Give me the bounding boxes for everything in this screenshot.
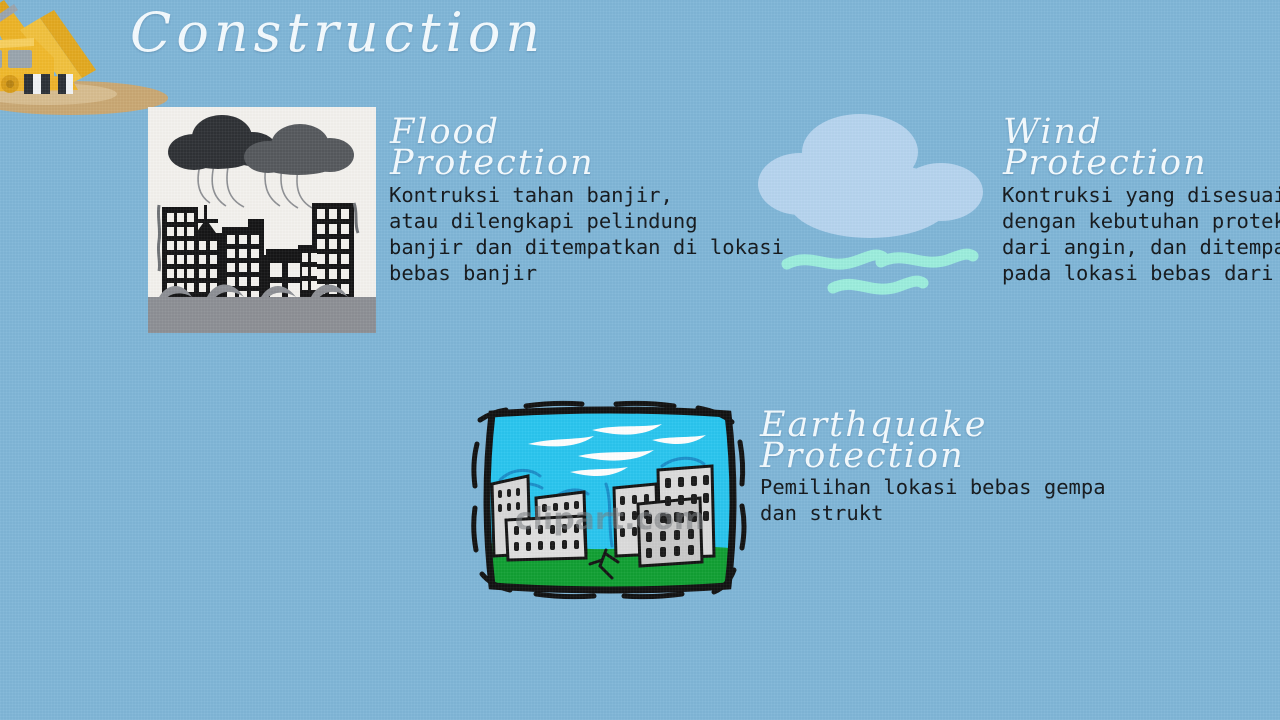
eq-scene-icon: [466, 398, 754, 602]
wind-body-line-4: pada lokasi bebas dari angin: [1002, 260, 1280, 286]
earthquake-body-line-2: dan strukt: [760, 500, 1106, 526]
cloud-icon: [758, 114, 983, 238]
section-body-wind: Kontruksi yang disesuaikan dengan kebutu…: [1002, 182, 1280, 286]
flood-body-line-2: atau dilengkapi pelindung: [389, 208, 784, 234]
flood-body-line-3: banjir dan ditempatkan di lokasi: [389, 234, 784, 260]
flood-title-line2: Protection: [390, 146, 595, 181]
wind-svg: [745, 112, 1010, 297]
earthquake-body-line-1: Pemilihan lokasi bebas gempa: [760, 474, 1106, 500]
slide-canvas: Construction: [0, 0, 1280, 720]
section-title-flood: Flood Protection: [390, 115, 595, 181]
section-title-wind: Wind Protection: [1003, 115, 1208, 181]
crane-track-icon: [0, 74, 78, 94]
wind-body-line-1: Kontruksi yang disesuaikan: [1002, 182, 1280, 208]
section-body-flood: Kontruksi tahan banjir, atau dilengkapi …: [389, 182, 784, 286]
flood-body-line-1: Kontruksi tahan banjir,: [389, 182, 784, 208]
flood-city-illustration: [148, 107, 376, 333]
earthquake-title-line2: Protection: [760, 439, 988, 474]
wind-body-line-2: dengan kebutuhan proteksi: [1002, 208, 1280, 234]
flood-svg: [148, 107, 376, 333]
section-title-earthquake: Earthquake Protection: [760, 408, 988, 474]
earthquake-svg: [466, 398, 754, 602]
earthquake-city-illustration: clipart.com: [466, 398, 754, 602]
wind-body-line-3: dari angin, dan ditempatkan: [1002, 234, 1280, 260]
cloud-wind-illustration: [745, 112, 1010, 297]
wind-title-line2: Protection: [1003, 146, 1208, 181]
section-body-earthquake: Pemilihan lokasi bebas gempa dan strukt: [760, 474, 1106, 526]
flood-body-line-4: bebas banjir: [389, 260, 784, 286]
page-title: Construction: [130, 6, 545, 60]
wind-lines-icon: [787, 254, 973, 289]
